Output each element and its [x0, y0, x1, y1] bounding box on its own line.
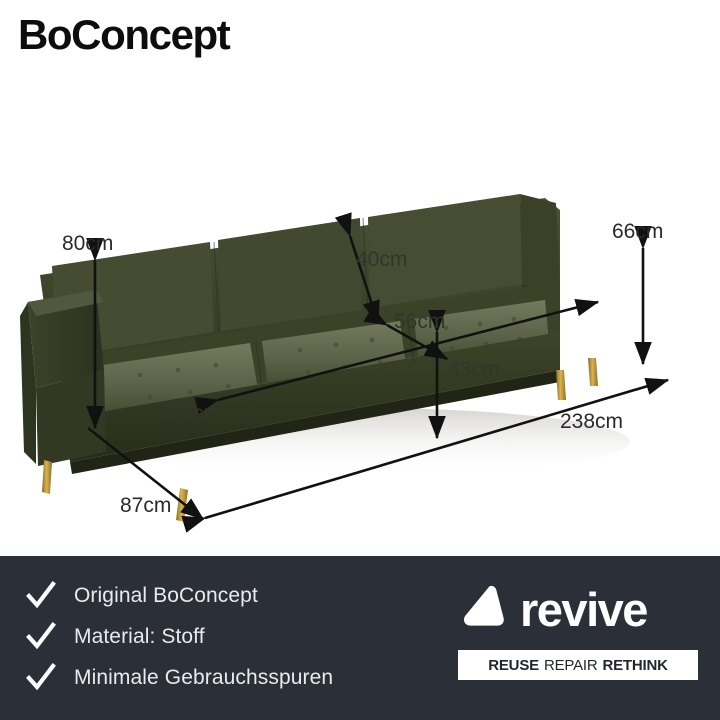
dim-label-cushion-height: 40cm: [356, 248, 407, 272]
product-photo: 80cm 66cm 40cm 56cm 43cm 220cm 238cm 87c…: [0, 70, 720, 556]
dim-label-seat-depth: 56cm: [394, 310, 445, 334]
feature-item: Minimale Gebrauchsspuren: [26, 662, 333, 694]
revive-branding: revive REUSE REPAIR RETHINK: [458, 580, 698, 680]
tagline-word-repair: REPAIR: [544, 657, 598, 674]
feature-label: Original BoConcept: [74, 584, 258, 608]
dim-label-backrest-height: 66cm: [612, 220, 663, 244]
check-icon: [26, 663, 56, 693]
dim-label-total-depth: 87cm: [120, 494, 171, 518]
tagline-word-reuse: REUSE: [488, 657, 539, 674]
check-icon: [26, 622, 56, 652]
feature-item: Original BoConcept: [26, 580, 333, 612]
feature-list: Original BoConcept Material: Stoff Minim…: [26, 580, 333, 694]
revive-logo-icon: [458, 583, 510, 635]
dimension-annotations: [0, 70, 720, 556]
dim-label-total-width: 238cm: [560, 410, 623, 434]
dim-label-height-overall: 80cm: [62, 232, 113, 256]
product-image-card: BoConcept: [0, 0, 720, 720]
feature-item: Material: Stoff: [26, 621, 333, 653]
tagline-word-rethink: RETHINK: [602, 657, 667, 674]
check-icon: [26, 581, 56, 611]
dim-label-seat-width: 220cm: [158, 402, 221, 426]
dim-label-seat-height: 43cm: [448, 358, 499, 382]
brand-logo: BoConcept: [18, 14, 229, 56]
feature-label: Minimale Gebrauchsspuren: [74, 666, 333, 690]
revive-tagline: REUSE REPAIR RETHINK: [458, 650, 698, 680]
info-banner: Original BoConcept Material: Stoff Minim…: [0, 556, 720, 720]
feature-label: Material: Stoff: [74, 625, 205, 649]
revive-wordmark: revive: [520, 586, 647, 633]
